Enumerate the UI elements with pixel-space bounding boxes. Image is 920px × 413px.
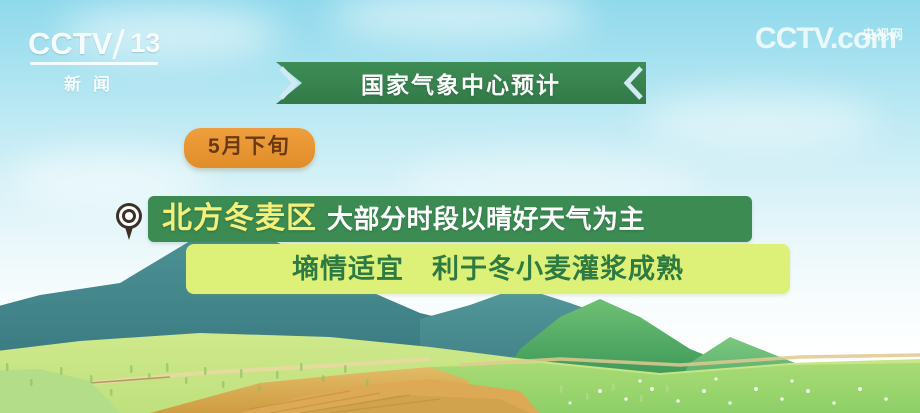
landscape-illustration (0, 213, 920, 413)
forecast-detail-band: 墒情适宜 利于冬小麦灌浆成熟 (186, 244, 790, 294)
logo-underline (30, 62, 158, 65)
forecast-primary-band: 北方冬麦区 大部分时段以晴好天气为主 (148, 196, 752, 242)
cctv-logo-row: CCTV 13 (28, 28, 188, 59)
broadcast-screen: CCTV 13 新闻 CCTV.com 央视网 国家气象中心预计 5月下旬 北方… (0, 0, 920, 413)
location-pin-icon (112, 200, 146, 242)
cctv-wordmark: CCTV (28, 28, 112, 59)
watermark-cn-text: 央视网 (862, 24, 904, 43)
chevron-right-icon (276, 62, 306, 104)
date-range-label: 5月下旬 (208, 135, 291, 158)
cctv-channel-logo: CCTV 13 新闻 (28, 28, 188, 90)
cctv-logo-subtitle: 新闻 (28, 70, 158, 95)
cctv-com-watermark: CCTV.com 央视网 (755, 24, 904, 54)
logo-slash-icon (113, 29, 126, 59)
cctv-channel-number: 13 (127, 30, 160, 57)
forecast-detail-text: 墒情适宜 利于冬小麦灌浆成熟 (292, 256, 684, 283)
title-banner: 国家气象中心预计 (276, 62, 646, 104)
chevron-left-icon (616, 62, 646, 104)
forecast-region-label: 北方冬麦区 (162, 204, 317, 234)
title-banner-text: 国家气象中心预计 (361, 66, 561, 101)
cloud-blob (330, 0, 590, 40)
cloud-blob (640, 92, 880, 152)
date-range-tag: 5月下旬 (184, 128, 315, 168)
forecast-description: 大部分时段以晴好天气为主 (327, 206, 645, 232)
